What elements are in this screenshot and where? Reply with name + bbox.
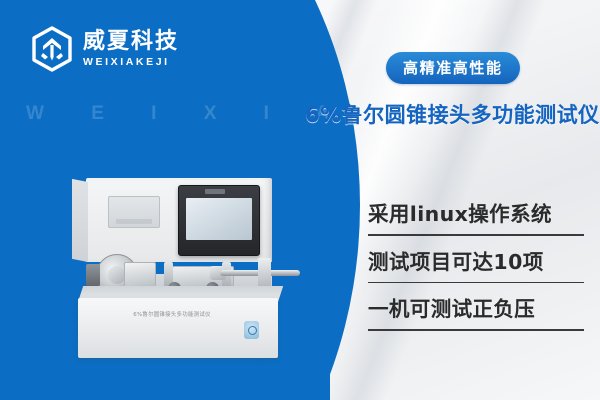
- list-item: 采用linux操作系统: [368, 194, 584, 234]
- divider: [368, 329, 584, 331]
- feature-list: 采用linux操作系统 测试项目可达10项 一机可测试正负压: [368, 194, 584, 337]
- page-title: 6%鲁尔圆锥接头多功能测试仪: [305, 99, 600, 129]
- cert-badge-icon: [244, 321, 259, 339]
- brand-logo: 威夏科技 WEIXIAKEJI: [30, 26, 179, 72]
- machine-access-plate: [108, 196, 160, 228]
- hexagon-arrow-logo-icon: [30, 26, 74, 72]
- product-promo-banner: W E I X I A K E J I 威夏科技 WEIXIAKEJI 高精准高…: [0, 0, 600, 400]
- brand-logo-text: 威夏科技 WEIXIAKEJI: [83, 31, 179, 68]
- machine-front-label: 6%鲁尔圆锥接头多功能测试仪: [72, 310, 272, 318]
- brand-name-cn: 威夏科技: [83, 31, 179, 53]
- headline-badge: 高精准高性能: [386, 52, 520, 84]
- list-item: 一机可测试正负压: [368, 289, 584, 329]
- hmi-brand-strip: [205, 189, 225, 194]
- divider: [368, 234, 584, 236]
- touchscreen-hmi: [178, 185, 260, 256]
- hmi-screen: [186, 198, 252, 240]
- list-item: 测试项目可达10项: [368, 242, 584, 282]
- wheel-clamp: [86, 264, 100, 286]
- product-photo: 6%鲁尔圆锥接头多功能测试仪: [72, 178, 304, 363]
- machine-back-panel-side: [72, 179, 88, 262]
- divider: [368, 282, 584, 284]
- brand-name-en: WEIXIAKEJI: [83, 57, 179, 68]
